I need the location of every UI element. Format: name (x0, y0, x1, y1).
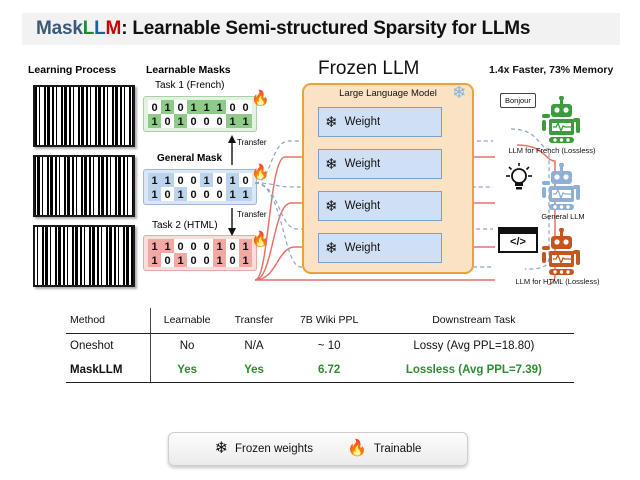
snowflake-icon: ❄ (325, 199, 338, 214)
table-cell: 6.72 (285, 358, 374, 383)
weight-block-2[interactable]: ❄ Weight (318, 149, 442, 179)
frozen-llm-heading: Frozen LLM (318, 58, 419, 80)
robot-caption-french: LLM for French (Lossless) (492, 146, 612, 155)
snowflake-icon: ❄ (325, 157, 338, 172)
mask-row: 10100011 (148, 187, 252, 201)
mask-cell[interactable]: 0 (174, 239, 187, 253)
mask-cell[interactable]: 1 (148, 239, 161, 253)
table-cell: Yes (223, 358, 284, 383)
robot-icon-general (540, 163, 586, 211)
llm-frozen-snowflake-icon: ❄ (452, 83, 466, 103)
mask-cell[interactable]: 0 (161, 187, 174, 201)
table-cell: Yes (150, 358, 223, 383)
mask-cell[interactable]: 0 (161, 114, 174, 128)
mask-cell[interactable]: 0 (187, 239, 200, 253)
robot-caption-general: General LLM (503, 212, 623, 221)
mask-cell[interactable]: 0 (200, 253, 213, 267)
mask-cell[interactable]: 1 (200, 100, 213, 114)
title-brand-l1: L (83, 18, 94, 39)
mask-cell[interactable]: 1 (239, 187, 252, 201)
mask-cell[interactable]: 0 (226, 253, 239, 267)
title-brand-mask: Mask (36, 18, 83, 39)
speed-memory-text: 1.4x Faster, 73% Memory (489, 64, 613, 76)
mask-cell[interactable]: 0 (187, 253, 200, 267)
mask-cell[interactable]: 0 (226, 239, 239, 253)
table-cell: Oneshot (66, 334, 150, 359)
mask-cell[interactable]: 1 (226, 173, 239, 187)
table-header-cell: Downstream Task (374, 308, 574, 334)
mask-cell[interactable]: 0 (226, 100, 239, 114)
mask-cell[interactable]: 0 (187, 187, 200, 201)
title-brand-l2: L (94, 18, 105, 39)
mask-cell[interactable]: 1 (213, 239, 226, 253)
task2-label: Task 2 (HTML) (152, 220, 218, 231)
weight-label: Weight (345, 242, 381, 254)
weight-block-4[interactable]: ❄ Weight (318, 233, 442, 263)
mask-cell[interactable]: 1 (161, 100, 174, 114)
mask-grid-general[interactable]: 1100101010100011 (143, 169, 257, 205)
title-brand-m: M (106, 18, 122, 39)
table-cell: Lossy (Avg PPL=18.80) (374, 334, 574, 359)
legend-frozen: ❄ Frozen weights (215, 441, 313, 457)
mask-cell[interactable]: 1 (239, 253, 252, 267)
table-header-cell: 7B Wiki PPL (285, 308, 374, 334)
mask-cell[interactable]: 1 (148, 114, 161, 128)
page-title: MaskLLM: Learnable Semi-structured Spars… (36, 18, 530, 40)
code-window-icon: </> (498, 227, 538, 253)
mask-grid-task2[interactable]: 1100010110100101 (143, 235, 257, 271)
mask-grid-task1[interactable]: 0101110010100011 (143, 96, 257, 132)
table-header-cell: Transfer (223, 308, 284, 334)
title-rest: : Learnable Semi-structured Sparsity for… (121, 18, 530, 39)
mask-cell[interactable]: 0 (200, 239, 213, 253)
mask-row: 10100011 (148, 114, 252, 128)
task1-label: Task 1 (French) (155, 80, 224, 91)
mask-cell[interactable]: 0 (200, 187, 213, 201)
mask-noise-image-2 (33, 155, 135, 217)
mask-cell[interactable]: 1 (226, 114, 239, 128)
mask-cell[interactable]: 1 (148, 187, 161, 201)
llm-box-caption: Large Language Model (304, 88, 472, 99)
mask-cell[interactable]: 1 (174, 187, 187, 201)
robot-icon-html (540, 228, 586, 276)
legend-frozen-label: Frozen weights (235, 443, 313, 455)
mask-row: 01011100 (148, 100, 252, 114)
mask-cell[interactable]: 1 (161, 173, 174, 187)
mask-cell[interactable]: 0 (161, 253, 174, 267)
table-cell: ~ 10 (285, 334, 374, 359)
table-header-cell: Method (66, 308, 150, 334)
code-window-glyph: </> (510, 236, 526, 248)
snowflake-icon: ❄ (215, 441, 228, 457)
table-row: MaskLLMYesYes6.72Lossless (Avg PPL=7.39) (66, 358, 574, 383)
weight-label: Weight (345, 200, 381, 212)
legend-bar: ❄ Frozen weights 🔥 Trainable (168, 432, 468, 466)
mask-cell[interactable]: 1 (239, 114, 252, 128)
mask-cell[interactable]: 0 (148, 100, 161, 114)
snowflake-icon: ❄ (325, 115, 338, 130)
mask-cell[interactable]: 1 (148, 253, 161, 267)
mask-cell[interactable]: 1 (187, 100, 200, 114)
snowflake-icon: ❄ (325, 241, 338, 256)
weight-label: Weight (345, 158, 381, 170)
mask-row: 11001010 (148, 173, 252, 187)
mask-cell[interactable]: 1 (213, 253, 226, 267)
weight-block-3[interactable]: ❄ Weight (318, 191, 442, 221)
mask-cell[interactable]: 0 (187, 114, 200, 128)
learnable-masks-heading: Learnable Masks (146, 64, 231, 76)
robot-caption-html: LLM for HTML (Lossless) (490, 277, 625, 286)
mask-cell[interactable]: 0 (174, 100, 187, 114)
mask-row: 11000101 (148, 239, 252, 253)
mask-cell[interactable]: 1 (174, 253, 187, 267)
robot-icon-french (540, 96, 586, 144)
mask-cell[interactable]: 0 (174, 173, 187, 187)
mask-cell[interactable]: 0 (213, 114, 226, 128)
table-header-row: MethodLearnableTransfer7B Wiki PPLDownst… (66, 308, 574, 334)
speech-bubble-french: Bonjour (500, 93, 536, 108)
lightbulb-icon (502, 162, 536, 196)
flame-icon: 🔥 (347, 441, 367, 457)
mask-cell[interactable]: 1 (161, 239, 174, 253)
table-row: OneshotNoN/A~ 10Lossy (Avg PPL=18.80) (66, 334, 574, 359)
mask-noise-image-1 (33, 85, 135, 147)
learning-process-heading: Learning Process (28, 64, 116, 76)
table-cell: MaskLLM (66, 358, 150, 383)
mask-row: 10100101 (148, 253, 252, 267)
llm-container: Large Language Model ❄ Weight ❄ Weight ❄… (302, 83, 474, 274)
mask-cell[interactable]: 0 (213, 173, 226, 187)
table-cell: N/A (223, 334, 284, 359)
mask-cell[interactable]: 1 (174, 114, 187, 128)
mask-cell[interactable]: 1 (148, 173, 161, 187)
legend-trainable: 🔥 Trainable (347, 441, 421, 457)
general-mask-label: General Mask (157, 153, 222, 164)
mask-cell[interactable]: 0 (200, 114, 213, 128)
mask-cell[interactable]: 1 (213, 100, 226, 114)
legend-trainable-label: Trainable (374, 443, 422, 455)
table-cell: No (150, 334, 223, 359)
mask-cell[interactable]: 0 (213, 187, 226, 201)
code-window-titlebar (500, 229, 536, 234)
weight-label: Weight (345, 116, 381, 128)
results-table: MethodLearnableTransfer7B Wiki PPLDownst… (66, 308, 574, 383)
weight-block-1[interactable]: ❄ Weight (318, 107, 442, 137)
mask-cell[interactable]: 0 (187, 173, 200, 187)
table-header-cell: Learnable (150, 308, 223, 334)
mask-cell[interactable]: 1 (200, 173, 213, 187)
mask-noise-image-3 (33, 225, 135, 287)
title-banner: MaskLLM: Learnable Semi-structured Spars… (22, 13, 620, 45)
mask-cell[interactable]: 1 (226, 187, 239, 201)
table-cell: Lossless (Avg PPL=7.39) (374, 358, 574, 383)
